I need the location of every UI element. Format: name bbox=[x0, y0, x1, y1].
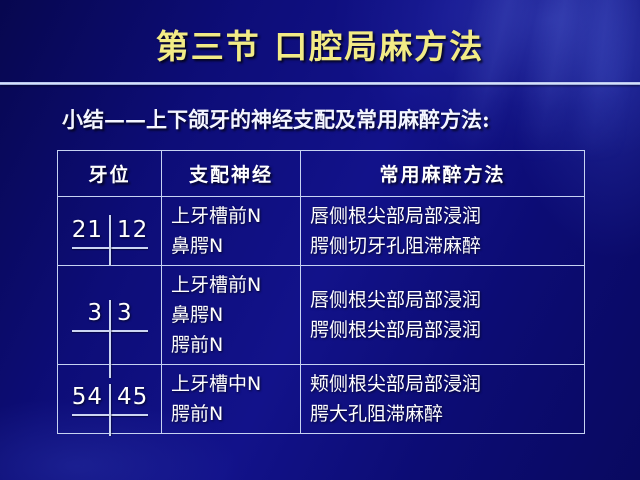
anesthesia-method-cell: 唇侧根尖部局部浸润 腭侧切牙孔阻滞麻醉 bbox=[301, 197, 585, 266]
table-row: 54 45 上牙槽中N 腭前N bbox=[58, 365, 585, 434]
method-line: 唇侧根尖部局部浸润 bbox=[310, 285, 584, 315]
tooth-left-quadrant: 54 bbox=[63, 382, 110, 412]
tooth-notation-vertical-line bbox=[109, 215, 111, 265]
anesthesia-method-cell: 唇侧根尖部局部浸润 腭侧根尖部局部浸润 bbox=[301, 266, 585, 365]
nerve-line: 鼻腭N bbox=[171, 300, 300, 330]
method-line: 唇侧根尖部局部浸润 bbox=[310, 201, 584, 231]
tooth-right-quadrant: 3 bbox=[110, 298, 157, 328]
tooth-left-quadrant: 21 bbox=[63, 215, 110, 245]
column-header-tooth-position: 牙位 bbox=[58, 151, 162, 197]
table-header-row: 牙位 支配神经 常用麻醉方法 bbox=[58, 151, 585, 197]
nerve-line: 腭前N bbox=[171, 330, 300, 360]
tooth-left-quadrant: 3 bbox=[63, 298, 110, 328]
nerve-line: 上牙槽前N bbox=[171, 201, 300, 231]
method-line: 腭侧切牙孔阻滞麻醉 bbox=[310, 231, 584, 261]
tooth-right-quadrant: 12 bbox=[110, 215, 157, 245]
column-header-nerve-supply: 支配神经 bbox=[162, 151, 301, 197]
method-line: 颊侧根尖部局部浸润 bbox=[310, 369, 584, 399]
anesthesia-method-cell: 颊侧根尖部局部浸润 腭大孔阻滞麻醉 bbox=[301, 365, 585, 434]
method-line: 腭大孔阻滞麻醉 bbox=[310, 399, 584, 429]
nerve-line: 鼻腭N bbox=[171, 231, 300, 261]
nerve-supply-cell: 上牙槽前N 鼻腭N bbox=[162, 197, 301, 266]
method-line: 腭侧根尖部局部浸润 bbox=[310, 315, 584, 345]
tooth-notation-vertical-line bbox=[109, 300, 111, 378]
nerve-line: 腭前N bbox=[171, 399, 300, 429]
tooth-right-quadrant: 45 bbox=[110, 382, 157, 412]
title-divider-rule bbox=[0, 82, 640, 85]
nerve-line: 上牙槽中N bbox=[171, 369, 300, 399]
table-row: 21 12 上牙槽前N 鼻腭N bbox=[58, 197, 585, 266]
subtitle-summary: 小结——上下颌牙的神经支配及常用麻醉方法: bbox=[62, 104, 490, 134]
nerve-supply-cell: 上牙槽前N 鼻腭N 腭前N bbox=[162, 266, 301, 365]
nerve-anesthesia-table: 牙位 支配神经 常用麻醉方法 21 12 bbox=[57, 150, 585, 434]
nerve-line: 上牙槽前N bbox=[171, 270, 300, 300]
page-title: 第三节 口腔局麻方法 bbox=[0, 20, 640, 68]
nerve-supply-cell: 上牙槽中N 腭前N bbox=[162, 365, 301, 434]
table-row: 3 3 上牙槽前N 鼻腭N 腭前N bbox=[58, 266, 585, 365]
slide-canvas: 第三节 口腔局麻方法 小结——上下颌牙的神经支配及常用麻醉方法: 牙位 支配神经… bbox=[0, 0, 640, 480]
tooth-notation-cell: 21 12 bbox=[58, 197, 162, 266]
tooth-notation-cell: 3 3 bbox=[58, 266, 162, 365]
tooth-notation-vertical-line bbox=[109, 384, 111, 436]
column-header-anesthesia-method: 常用麻醉方法 bbox=[301, 151, 585, 197]
